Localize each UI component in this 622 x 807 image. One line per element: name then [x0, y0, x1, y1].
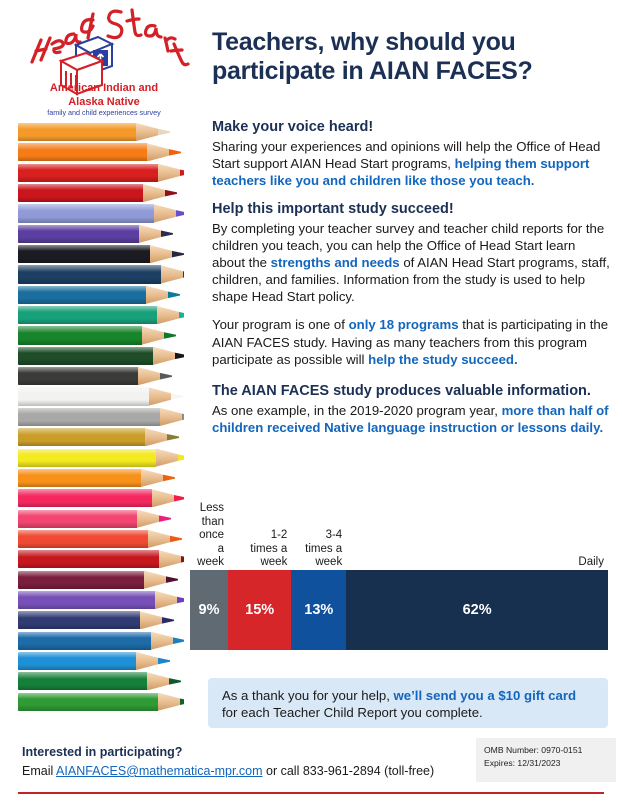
section-heading: The AIAN FACES study produces valuable i…	[212, 383, 612, 400]
pencil-wood	[151, 632, 173, 650]
pencil-barrel	[18, 123, 136, 141]
pencil	[18, 265, 184, 283]
pencil-barrel	[18, 367, 138, 385]
flyer-page: American Indian and Alaska Native family…	[0, 0, 622, 807]
pencil-barrel	[18, 225, 139, 243]
logo-tagline: family and child experiences survey	[14, 108, 194, 117]
omb-expires: Expires: 12/31/2023	[484, 757, 608, 770]
bar-segment-value: 9%	[190, 602, 228, 618]
pencil-tip	[169, 143, 181, 161]
pencil-tip	[171, 387, 183, 405]
pencil-barrel	[18, 204, 154, 222]
pencil-barrel	[18, 672, 147, 690]
omb-number: OMB Number: 0970-0151	[484, 744, 608, 757]
pencil-barrel	[18, 469, 141, 487]
pencil-barrel	[18, 611, 140, 629]
chart-label-line: Daily	[346, 556, 604, 570]
pencil-tip	[167, 428, 179, 446]
pencil-wood	[157, 306, 179, 324]
pencil	[18, 143, 181, 161]
pencil-wood	[141, 469, 163, 487]
section-help-this-study-succeed: Help this important study succeed! By co…	[212, 201, 612, 306]
pencil	[18, 571, 178, 589]
pencil-wood	[147, 672, 169, 690]
section-heading: Help this important study succeed!	[212, 201, 612, 218]
pencil-tip	[178, 449, 184, 467]
pencil-wood	[156, 449, 178, 467]
pencil-tip	[183, 265, 184, 283]
pencil-tip	[172, 245, 184, 263]
pencil-tip	[164, 326, 176, 344]
pencil	[18, 428, 179, 446]
pencil-wood	[154, 204, 176, 222]
pencil	[18, 387, 183, 405]
bottom-rule	[18, 792, 604, 794]
pencil	[18, 408, 184, 426]
logo-subtitle-line1: American Indian and	[14, 82, 194, 96]
pencil-tip	[181, 550, 184, 568]
chart-category-labels: Lessthanonce aweek1-2times aweek3-4times…	[190, 498, 608, 570]
stacked-bar: 9%15%13%62%	[190, 570, 608, 650]
pencil-tip	[158, 123, 170, 141]
pencil	[18, 652, 170, 670]
chart-label-line: times a	[228, 543, 287, 557]
contact-footer: Interested in participating? Email AIANF…	[22, 745, 462, 778]
pencil-wood	[159, 550, 181, 568]
pencil	[18, 367, 172, 385]
pencil	[18, 611, 174, 629]
chart-category-label: 3-4times aweek	[291, 529, 342, 570]
pencil-wood	[136, 123, 158, 141]
section-make-your-voice-heard: Make your voice heard! Sharing your expe…	[212, 119, 612, 190]
pencil	[18, 632, 184, 650]
pencil-barrel	[18, 489, 152, 507]
pencil-barrel	[18, 164, 158, 182]
section-body: Your program is one of only 18 programs …	[212, 316, 612, 367]
pencil-tip	[182, 408, 184, 426]
pencil-tip	[180, 164, 184, 182]
pencil	[18, 449, 184, 467]
pencil	[18, 164, 184, 182]
pencil	[18, 123, 170, 141]
pencil-barrel	[18, 326, 142, 344]
section-heading: Make your voice heard!	[212, 119, 612, 136]
pencil-tip	[165, 184, 177, 202]
pencil-tip	[168, 286, 180, 304]
pencil	[18, 489, 184, 507]
pencil-tip	[175, 347, 184, 365]
pencil-tip	[161, 225, 173, 243]
bar-segment-value: 62%	[346, 602, 608, 618]
pencil-tip	[170, 530, 182, 548]
colored-pencils-image	[18, 122, 184, 712]
bar-segment-value: 15%	[228, 602, 291, 618]
pencil-wood	[142, 326, 164, 344]
chart-category-label: 1-2times aweek	[228, 529, 287, 570]
pencil	[18, 204, 184, 222]
native-language-instruction-chart: Lessthanonce aweek1-2times aweek3-4times…	[190, 498, 608, 650]
pencil-barrel	[18, 347, 153, 365]
pencil	[18, 591, 184, 609]
pencil	[18, 245, 184, 263]
pencil-barrel	[18, 550, 159, 568]
pencil-barrel	[18, 652, 136, 670]
pencil-wood	[161, 265, 183, 283]
pencil	[18, 326, 176, 344]
pencil	[18, 347, 184, 365]
pencil-wood	[155, 591, 177, 609]
pencil-barrel	[18, 387, 149, 405]
pencil-barrel	[18, 286, 146, 304]
pencil-tip	[162, 611, 174, 629]
pencil-tip	[169, 672, 181, 690]
chart-label-line: Less	[190, 502, 224, 516]
pencil-tip	[159, 510, 171, 528]
body-content: Make your voice heard! Sharing your expe…	[212, 119, 612, 447]
pencil-tip	[176, 204, 184, 222]
pencil-wood	[152, 489, 174, 507]
section-only-18-programs: Your program is one of only 18 programs …	[212, 316, 612, 367]
pencil	[18, 550, 184, 568]
pencil-tip	[177, 591, 184, 609]
pencil	[18, 530, 182, 548]
pencil-wood	[145, 428, 167, 446]
pencil	[18, 693, 184, 711]
omb-box: OMB Number: 0970-0151 Expires: 12/31/202…	[476, 738, 616, 782]
pencil-barrel	[18, 245, 150, 263]
chart-label-line: week	[228, 556, 287, 570]
pencil-wood	[147, 143, 169, 161]
chart-label-line: once a	[190, 529, 224, 556]
pencil-wood	[153, 347, 175, 365]
chart-label-line: than	[190, 516, 224, 530]
pencil-wood	[148, 530, 170, 548]
pencil-tip	[179, 306, 184, 324]
chart-category-label: Daily	[346, 556, 604, 570]
pencil-wood	[149, 387, 171, 405]
pencil-tip	[173, 632, 184, 650]
pencil	[18, 225, 173, 243]
bar-segment-value: 13%	[291, 602, 346, 618]
chart-label-line: times a	[291, 543, 342, 557]
pencil-tip	[163, 469, 175, 487]
footer-contact-line: Email AIANFACES@mathematica-mpr.com or c…	[22, 764, 462, 778]
pencil	[18, 184, 177, 202]
pencil-wood	[158, 693, 180, 711]
pencil	[18, 510, 171, 528]
pencil-barrel	[18, 591, 155, 609]
section-body: By completing your teacher survey and te…	[212, 220, 612, 306]
pencil-barrel	[18, 530, 148, 548]
chart-category-label: Lessthanonce aweek	[190, 502, 224, 570]
footer-email-prefix: Email	[22, 764, 56, 778]
bar-segment: 15%	[228, 570, 291, 650]
pencil	[18, 306, 184, 324]
pencil-tip	[160, 367, 172, 385]
chart-label-line: 3-4	[291, 529, 342, 543]
gift-card-callout: As a thank you for your help, we’ll send…	[208, 678, 608, 728]
pencil	[18, 286, 180, 304]
pencil-wood	[139, 225, 161, 243]
pencil-tip	[180, 693, 184, 711]
pencil-wood	[138, 367, 160, 385]
pencil-wood	[146, 286, 168, 304]
pencil-tip	[158, 652, 170, 670]
chart-label-line: week	[190, 556, 224, 570]
aian-faces-logo: American Indian and Alaska Native family…	[14, 4, 194, 116]
pencil-wood	[158, 164, 180, 182]
bar-segment: 13%	[291, 570, 346, 650]
pencil-wood	[150, 245, 172, 263]
section-body: As one example, in the 2019-2020 program…	[212, 402, 612, 436]
footer-phone-text: or call 833-961-2894 (toll-free)	[263, 764, 435, 778]
pencil-wood	[144, 571, 166, 589]
logo-subtitle: American Indian and Alaska Native	[14, 82, 194, 110]
pencil-tip	[166, 571, 178, 589]
bar-segment: 62%	[346, 570, 608, 650]
pencil-barrel	[18, 265, 161, 283]
pencil-wood	[143, 184, 165, 202]
pencil-barrel	[18, 632, 151, 650]
pencil-barrel	[18, 571, 144, 589]
chart-label-line: 1-2	[228, 529, 287, 543]
pencil-barrel	[18, 306, 157, 324]
pencil-wood	[160, 408, 182, 426]
chart-label-line: week	[291, 556, 342, 570]
pencil	[18, 672, 181, 690]
section-valuable-information: The AIAN FACES study produces valuable i…	[212, 383, 612, 436]
pencil-barrel	[18, 428, 145, 446]
pencil-tip	[174, 489, 184, 507]
pencil-barrel	[18, 693, 158, 711]
pencil-wood	[140, 611, 162, 629]
pencil-wood	[136, 652, 158, 670]
pencil-barrel	[18, 449, 156, 467]
pencil-barrel	[18, 408, 160, 426]
pencil	[18, 469, 175, 487]
pencil-wood	[137, 510, 159, 528]
footer-heading: Interested in participating?	[22, 745, 462, 759]
pencil-barrel	[18, 510, 137, 528]
pencil-barrel	[18, 143, 147, 161]
email-link[interactable]: AIANFACES@mathematica-mpr.com	[56, 764, 263, 778]
bar-segment: 9%	[190, 570, 228, 650]
section-body: Sharing your experiences and opinions wi…	[212, 138, 612, 189]
page-title: Teachers, why should you participate in …	[212, 28, 612, 85]
pencil-barrel	[18, 184, 143, 202]
